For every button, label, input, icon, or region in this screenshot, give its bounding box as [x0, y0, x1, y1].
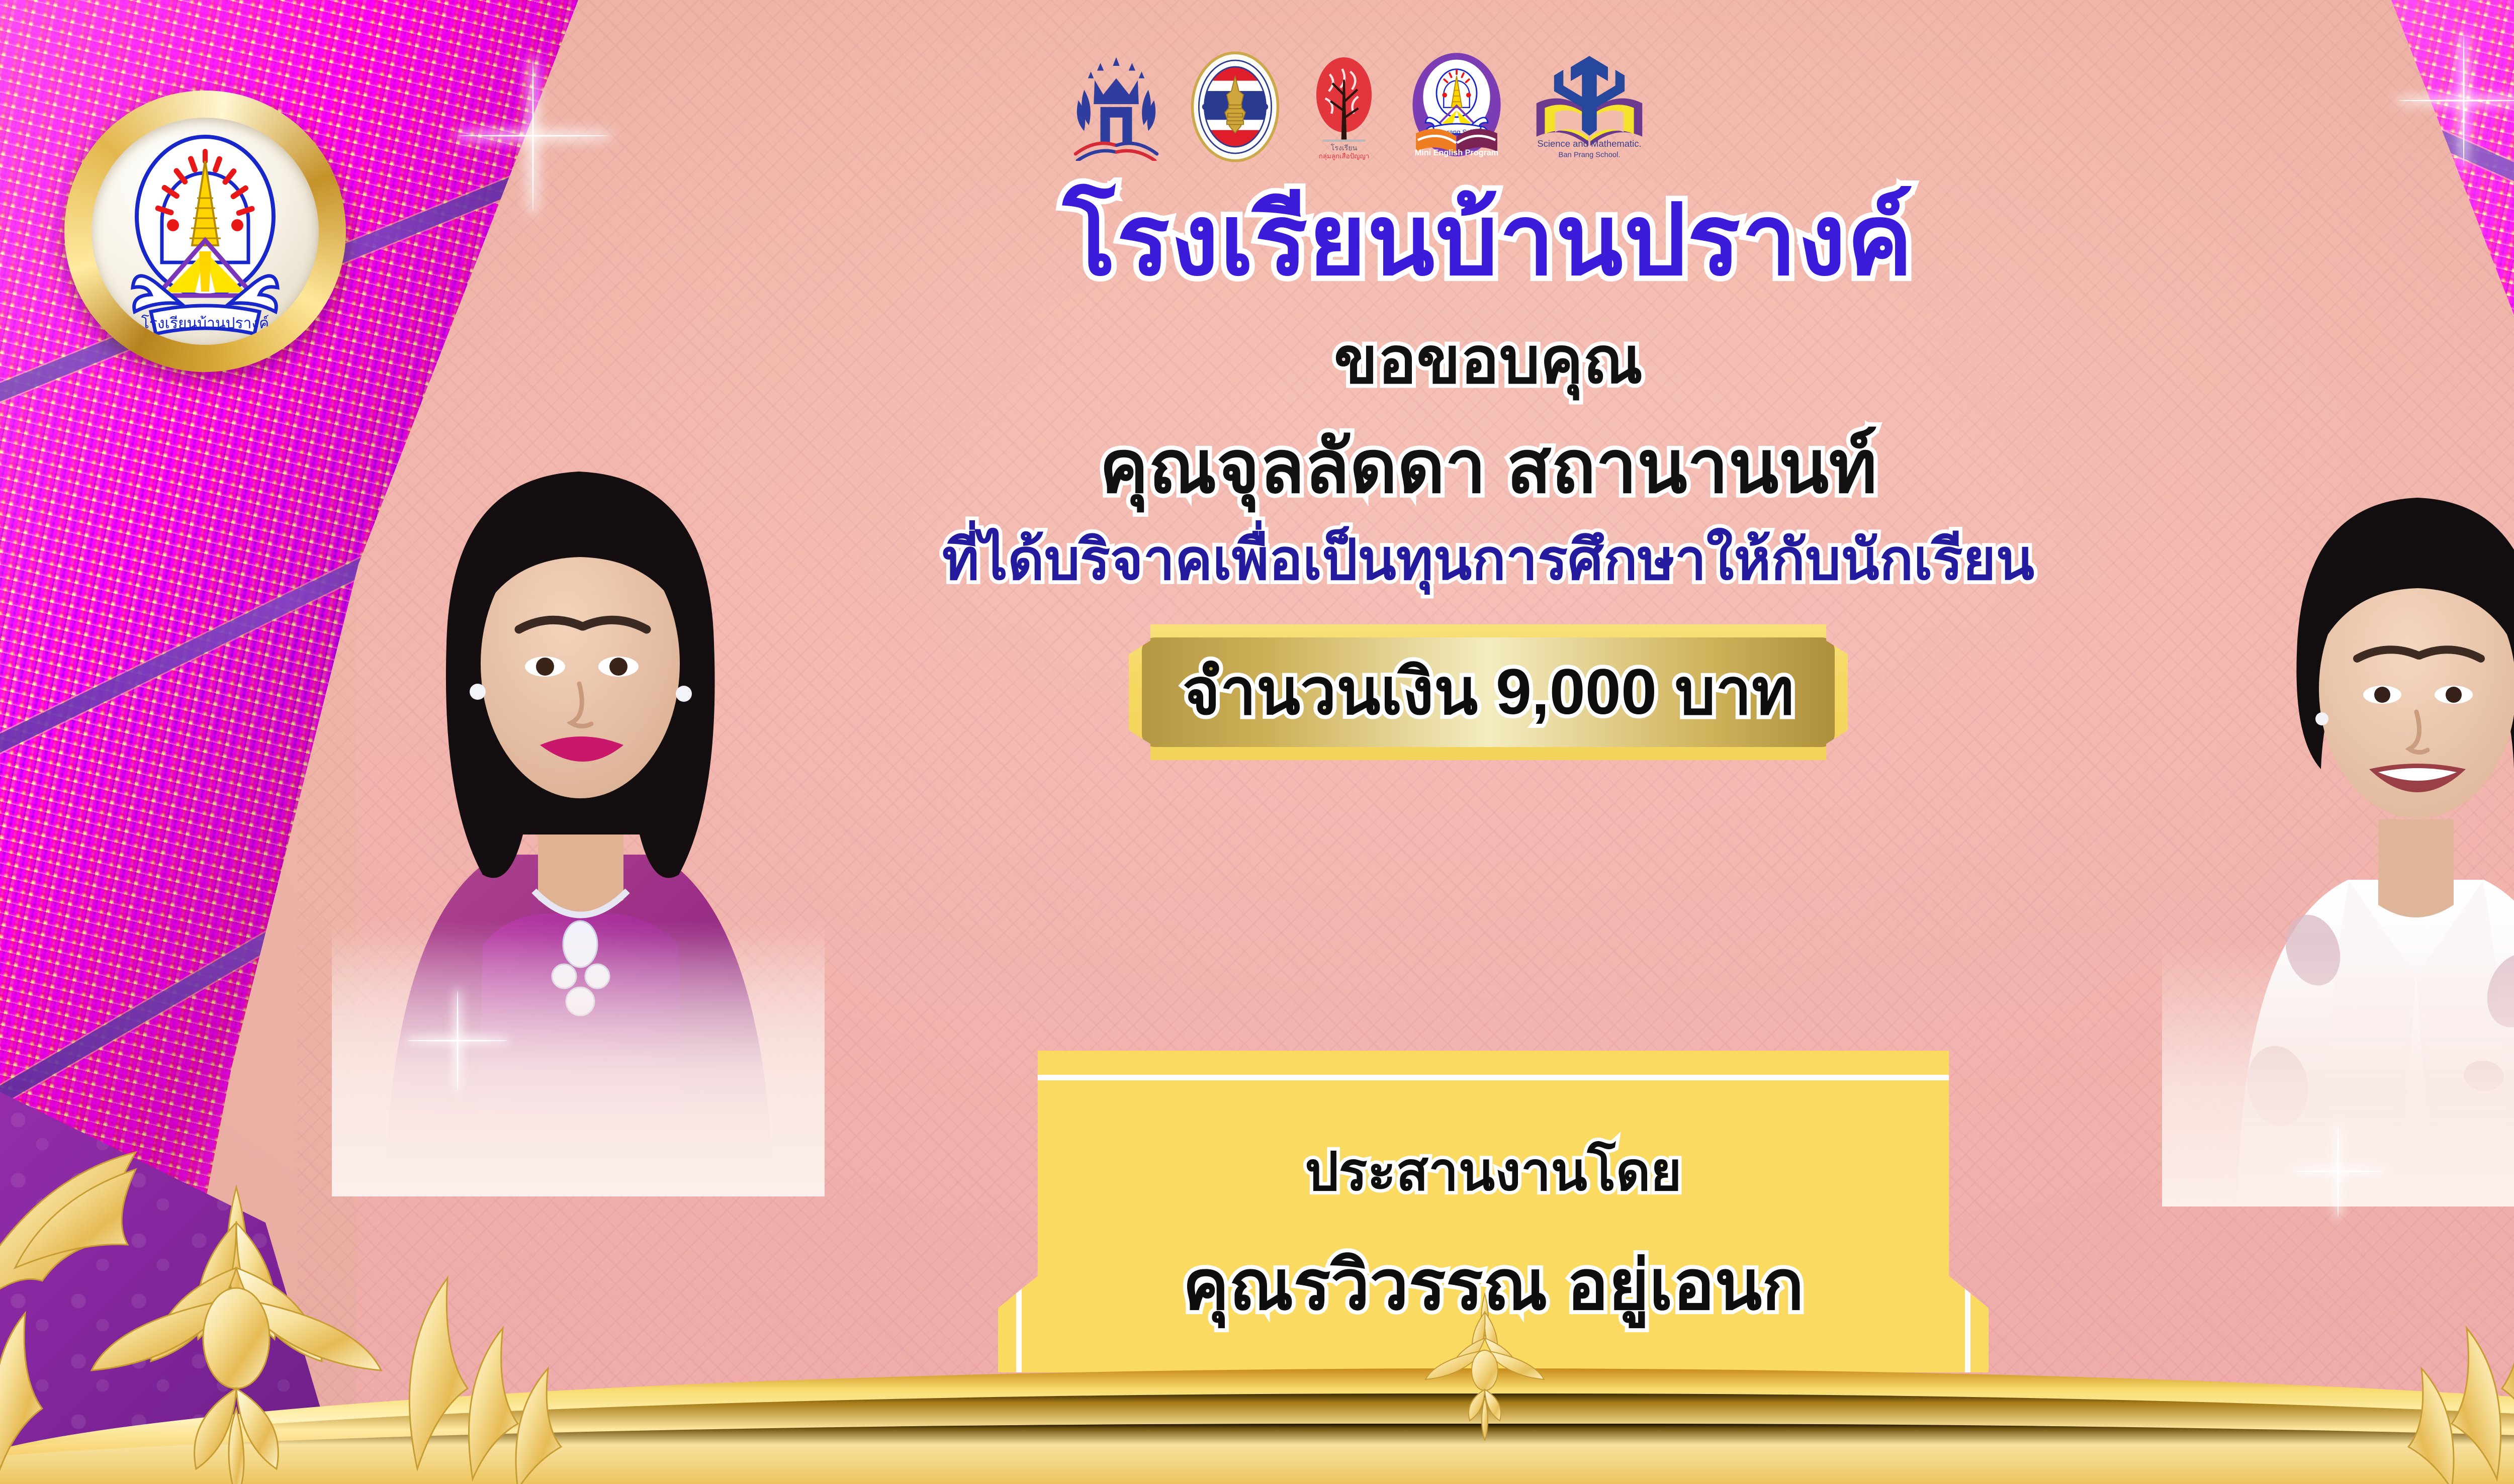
thank-you-banner: โรงเรียนบ้านปรางค์	[0, 0, 2514, 1484]
science-math-emblem-icon: Science and Mathematic. Ban Prang School…	[1529, 50, 1650, 166]
seal-ribbon-text: โรงเรียนบ้านปรางค์	[141, 314, 269, 332]
red-tree-caption-top: โรงเรียน	[1331, 144, 1358, 152]
sms-caption: Science and Mathematic.	[1537, 138, 1641, 149]
red-tree-emblem-icon: โรงเรียน กลุ่มลูกเสือปัญญา	[1304, 50, 1384, 166]
amount-text: จำนวนเงิน 9,000 บาท	[1183, 660, 1794, 724]
banner-content: โรงเรียนบ้านปรางค์ ขอขอบคุณ คุณจุลลัดดา …	[593, 191, 2383, 760]
mep-caption: Mini English Program	[1415, 148, 1498, 157]
school-seal-inner: โรงเรียนบ้านปรางค์	[92, 118, 319, 345]
gold-center-ornament-icon	[1379, 1290, 1590, 1441]
amount-plaque-wrap: จำนวนเงิน 9,000 บาท	[593, 624, 2383, 760]
logo-row: โรงเรียน กลุ่มลูกเสือปัญญา	[1066, 50, 1891, 176]
coordinator-label: ประสานงานโดย	[1305, 1145, 1681, 1198]
donation-purpose: ที่ได้บริจาคเพื่อเป็นทุนการศึกษาให้กับนั…	[593, 532, 2383, 588]
portrait-bottom-fade	[2162, 938, 2514, 1207]
sms-sub-caption: Ban Prang School.	[1559, 151, 1621, 159]
portrait-bottom-fade	[332, 919, 825, 1196]
amount-plaque: จำนวนเงิน 9,000 บาท	[1129, 624, 1848, 760]
thai-flag-garuda-seal-icon	[1189, 50, 1282, 166]
school-seal-medallion: โรงเรียนบ้านปรางค์	[64, 90, 346, 372]
mini-english-program-seal-icon: Banprang School Mini English Program	[1406, 50, 1507, 166]
red-tree-caption-bottom: กลุ่มลูกเสือปัญญา	[1319, 152, 1370, 160]
donor-name: คุณจุลลัดดา สถานานนท์	[593, 430, 2383, 504]
crown-book-emblem-icon	[1066, 50, 1166, 166]
school-seal-icon: โรงเรียนบ้านปรางค์	[92, 118, 319, 345]
gold-wave-footer	[0, 1318, 2514, 1484]
school-title: โรงเรียนบ้านปรางค์	[593, 191, 2383, 290]
thanks-line: ขอขอบคุณ	[593, 329, 2383, 393]
amount-plaque-face: จำนวนเงิน 9,000 บาท	[1142, 637, 1835, 747]
